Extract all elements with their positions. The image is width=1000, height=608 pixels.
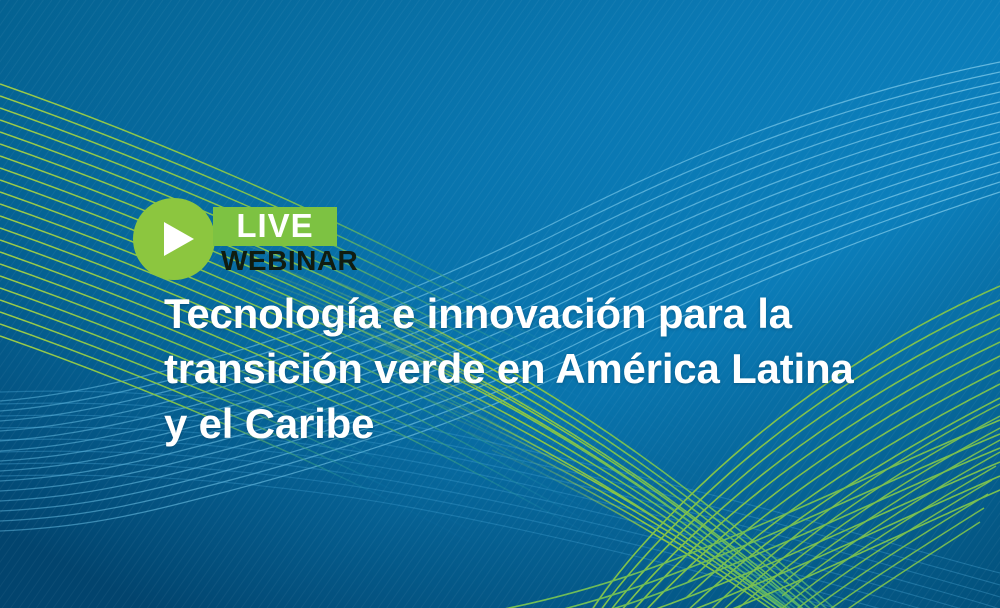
play-triangle-glyph [164,222,194,256]
page-title: Tecnología e innovación para la transici… [164,286,964,451]
live-label: LIVE [213,207,337,246]
title-line-3: y el Caribe [164,396,964,451]
live-chip: LIVE [213,207,337,246]
title-line-2: transición verde en América Latina [164,341,964,396]
live-webinar-banner: LIVE WEBINAR Tecnología e innovación par… [0,0,1000,608]
play-icon[interactable] [133,198,215,280]
live-webinar-badge: LIVE WEBINAR [133,198,493,284]
title-line-1: Tecnología e innovación para la [164,286,964,341]
webinar-label: WEBINAR [221,246,358,276]
